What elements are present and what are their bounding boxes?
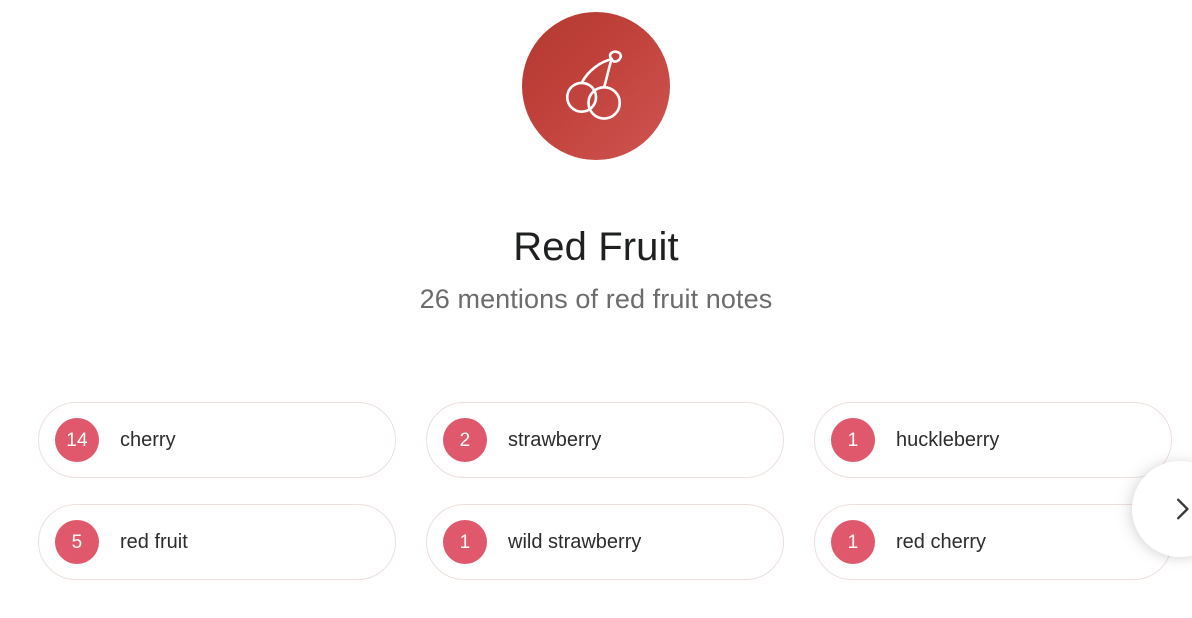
chip-count-badge: 2 — [443, 418, 487, 462]
chip-count-badge: 14 — [55, 418, 99, 462]
page-title: Red Fruit — [0, 222, 1192, 272]
red-fruit-detail-page: Red Fruit 26 mentions of red fruit notes… — [0, 0, 1192, 618]
chip-item[interactable]: 14 cherry — [38, 402, 396, 478]
chips-grid: 14 cherry 2 strawberry 1 huckleberry 5 r… — [38, 402, 1172, 580]
chip-label: strawberry — [508, 428, 601, 452]
chip-label: red fruit — [120, 530, 188, 554]
chip-count-badge: 1 — [443, 520, 487, 564]
chip-label: huckleberry — [896, 428, 999, 452]
chip-count-badge: 1 — [831, 418, 875, 462]
chip-label: red cherry — [896, 530, 986, 554]
chip-label: cherry — [120, 428, 176, 452]
title-block: Red Fruit 26 mentions of red fruit notes — [0, 222, 1192, 316]
chip-item[interactable]: 1 huckleberry — [814, 402, 1172, 478]
page-subtitle: 26 mentions of red fruit notes — [0, 282, 1192, 316]
chip-count-badge: 5 — [55, 520, 99, 564]
cherry-icon — [556, 46, 636, 126]
chip-item[interactable]: 2 strawberry — [426, 402, 784, 478]
hero-icon-container — [0, 12, 1192, 160]
chip-item[interactable]: 1 red cherry — [814, 504, 1172, 580]
chevron-right-icon — [1165, 496, 1192, 522]
cherry-icon-circle — [522, 12, 670, 160]
chip-item[interactable]: 1 wild strawberry — [426, 504, 784, 580]
chips-carousel-viewport: 14 cherry 2 strawberry 1 huckleberry 5 r… — [0, 394, 1192, 594]
chip-count-badge: 1 — [831, 520, 875, 564]
chip-label: wild strawberry — [508, 530, 641, 554]
chip-item[interactable]: 5 red fruit — [38, 504, 396, 580]
